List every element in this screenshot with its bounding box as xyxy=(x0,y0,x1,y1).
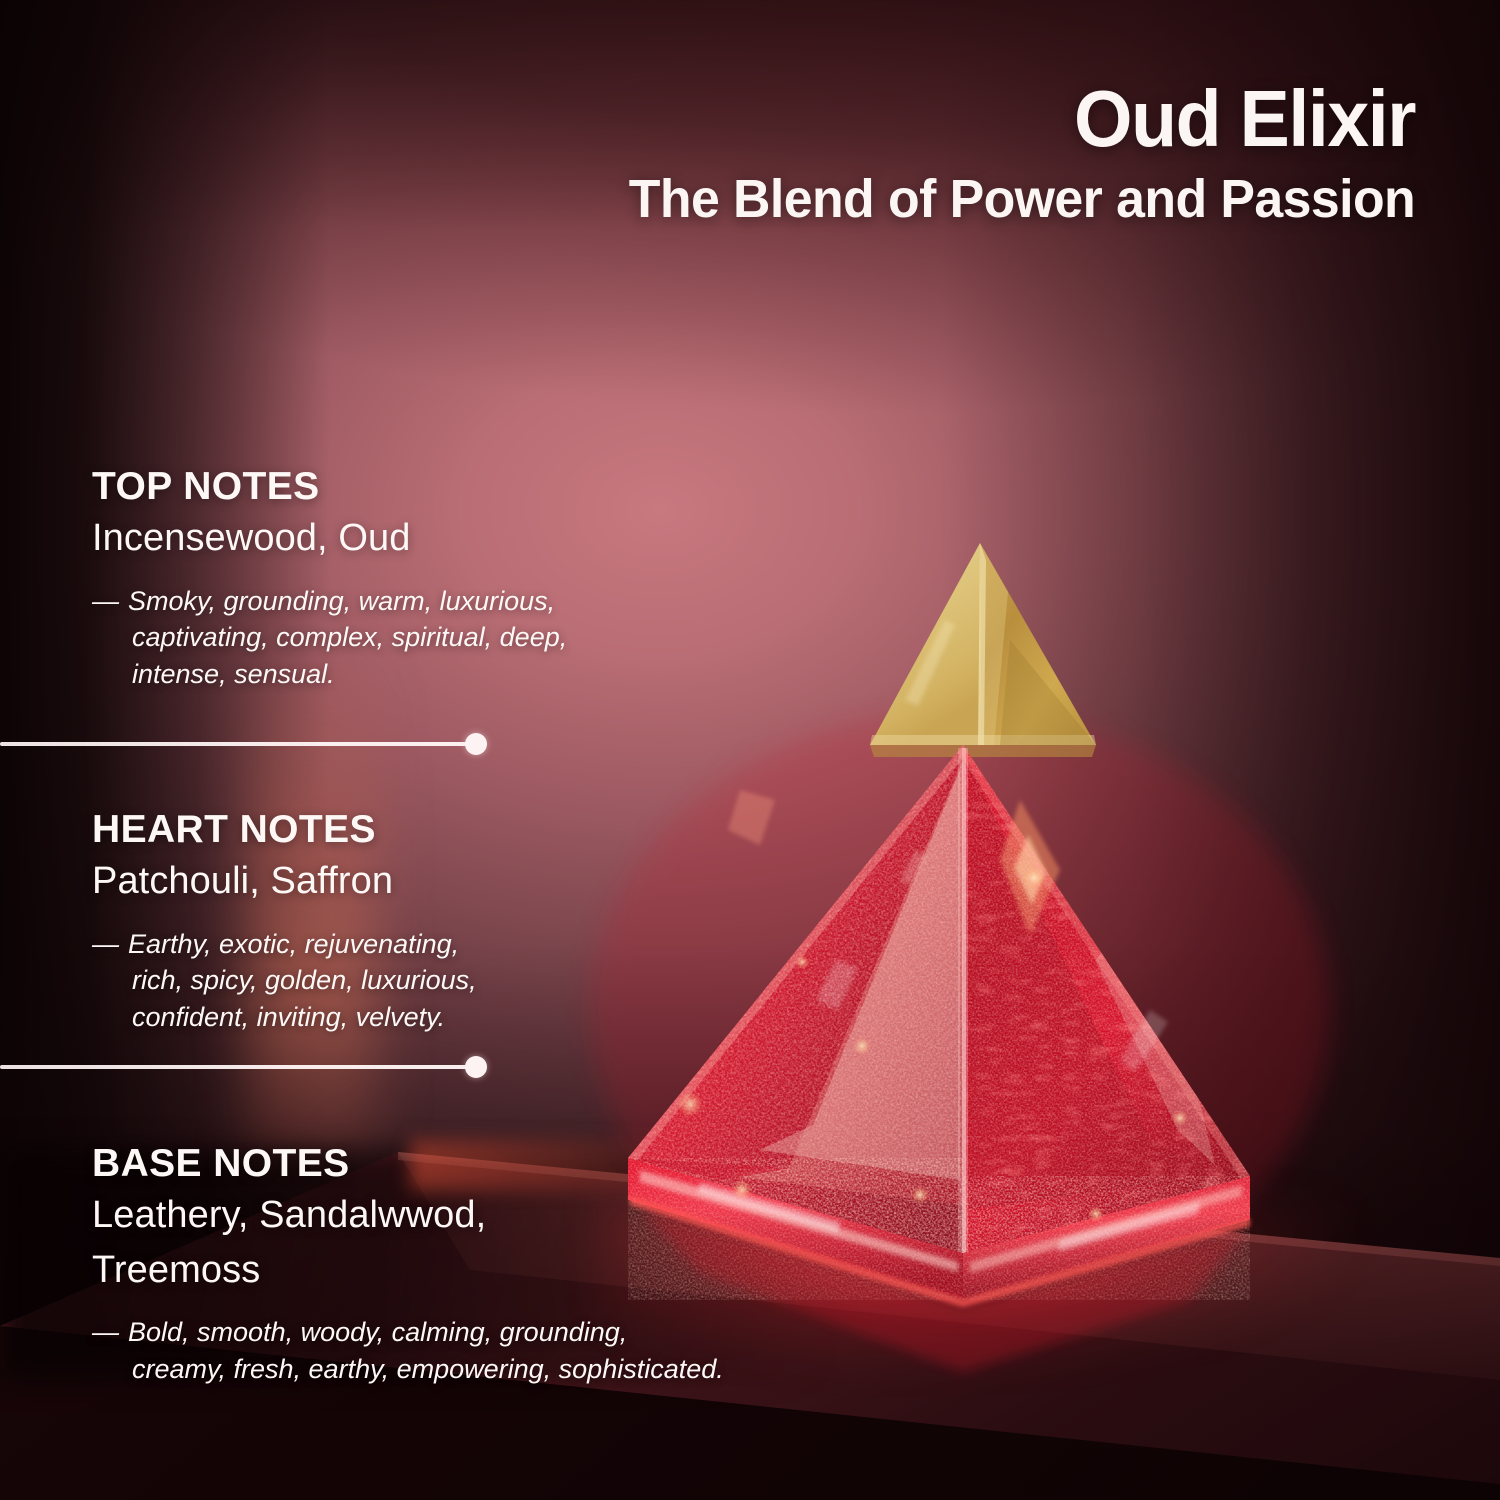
note-block-heart: HEART NOTES Patchouli, Saffron —Earthy, … xyxy=(92,809,902,1035)
poster-canvas: Oud Elixir The Blend of Power and Passio… xyxy=(0,0,1500,1500)
note-description-heart: —Earthy, exotic, rejuvenating, rich, spi… xyxy=(92,926,902,1035)
note-description-base: —Bold, smooth, woody, calming, grounding… xyxy=(92,1314,902,1387)
note-desc-line: captivating, complex, spiritual, deep, xyxy=(92,619,902,655)
note-desc-line: confident, inviting, velvety. xyxy=(92,999,902,1035)
note-desc-line: rich, spicy, golden, luxurious, xyxy=(92,962,902,998)
note-description-top: —Smoky, grounding, warm, luxurious, capt… xyxy=(92,583,902,692)
note-block-top: TOP NOTES Incensewood, Oud —Smoky, groun… xyxy=(92,466,902,692)
divider-heart-to-base xyxy=(0,1056,492,1078)
header: Oud Elixir The Blend of Power and Passio… xyxy=(596,80,1415,230)
note-desc-line: Earthy, exotic, rejuvenating, xyxy=(128,929,459,959)
page-title: Oud Elixir xyxy=(645,80,1415,158)
note-desc-line: Bold, smooth, woody, calming, grounding, xyxy=(128,1317,627,1347)
divider-dot-icon xyxy=(465,1056,487,1078)
em-dash-icon: — xyxy=(92,929,119,959)
note-ingredients-top: Incensewood, Oud xyxy=(92,514,902,563)
note-desc-line: Smoky, grounding, warm, luxurious, xyxy=(128,586,555,616)
note-desc-line: creamy, fresh, earthy, empowering, sophi… xyxy=(92,1351,902,1387)
note-label-base: BASE NOTES xyxy=(92,1143,902,1185)
note-ingredients-base-2: Treemoss xyxy=(92,1246,902,1295)
note-desc-line: intense, sensual. xyxy=(92,656,902,692)
divider-top-to-heart xyxy=(0,733,492,755)
divider-line xyxy=(0,742,478,746)
note-ingredients-heart: Patchouli, Saffron xyxy=(92,857,902,906)
page-subtitle: The Blend of Power and Passion xyxy=(629,170,1415,229)
divider-line xyxy=(0,1065,478,1069)
em-dash-icon: — xyxy=(92,1317,119,1347)
note-ingredients-base: Leathery, Sandalwwod, xyxy=(92,1191,902,1240)
fragrance-notes-list: TOP NOTES Incensewood, Oud —Smoky, groun… xyxy=(92,466,902,1387)
note-label-heart: HEART NOTES xyxy=(92,809,902,851)
note-label-top: TOP NOTES xyxy=(92,466,902,508)
note-block-base: BASE NOTES Leathery, Sandalwwod, Treemos… xyxy=(92,1143,902,1387)
em-dash-icon: — xyxy=(92,586,119,616)
divider-dot-icon xyxy=(465,733,487,755)
